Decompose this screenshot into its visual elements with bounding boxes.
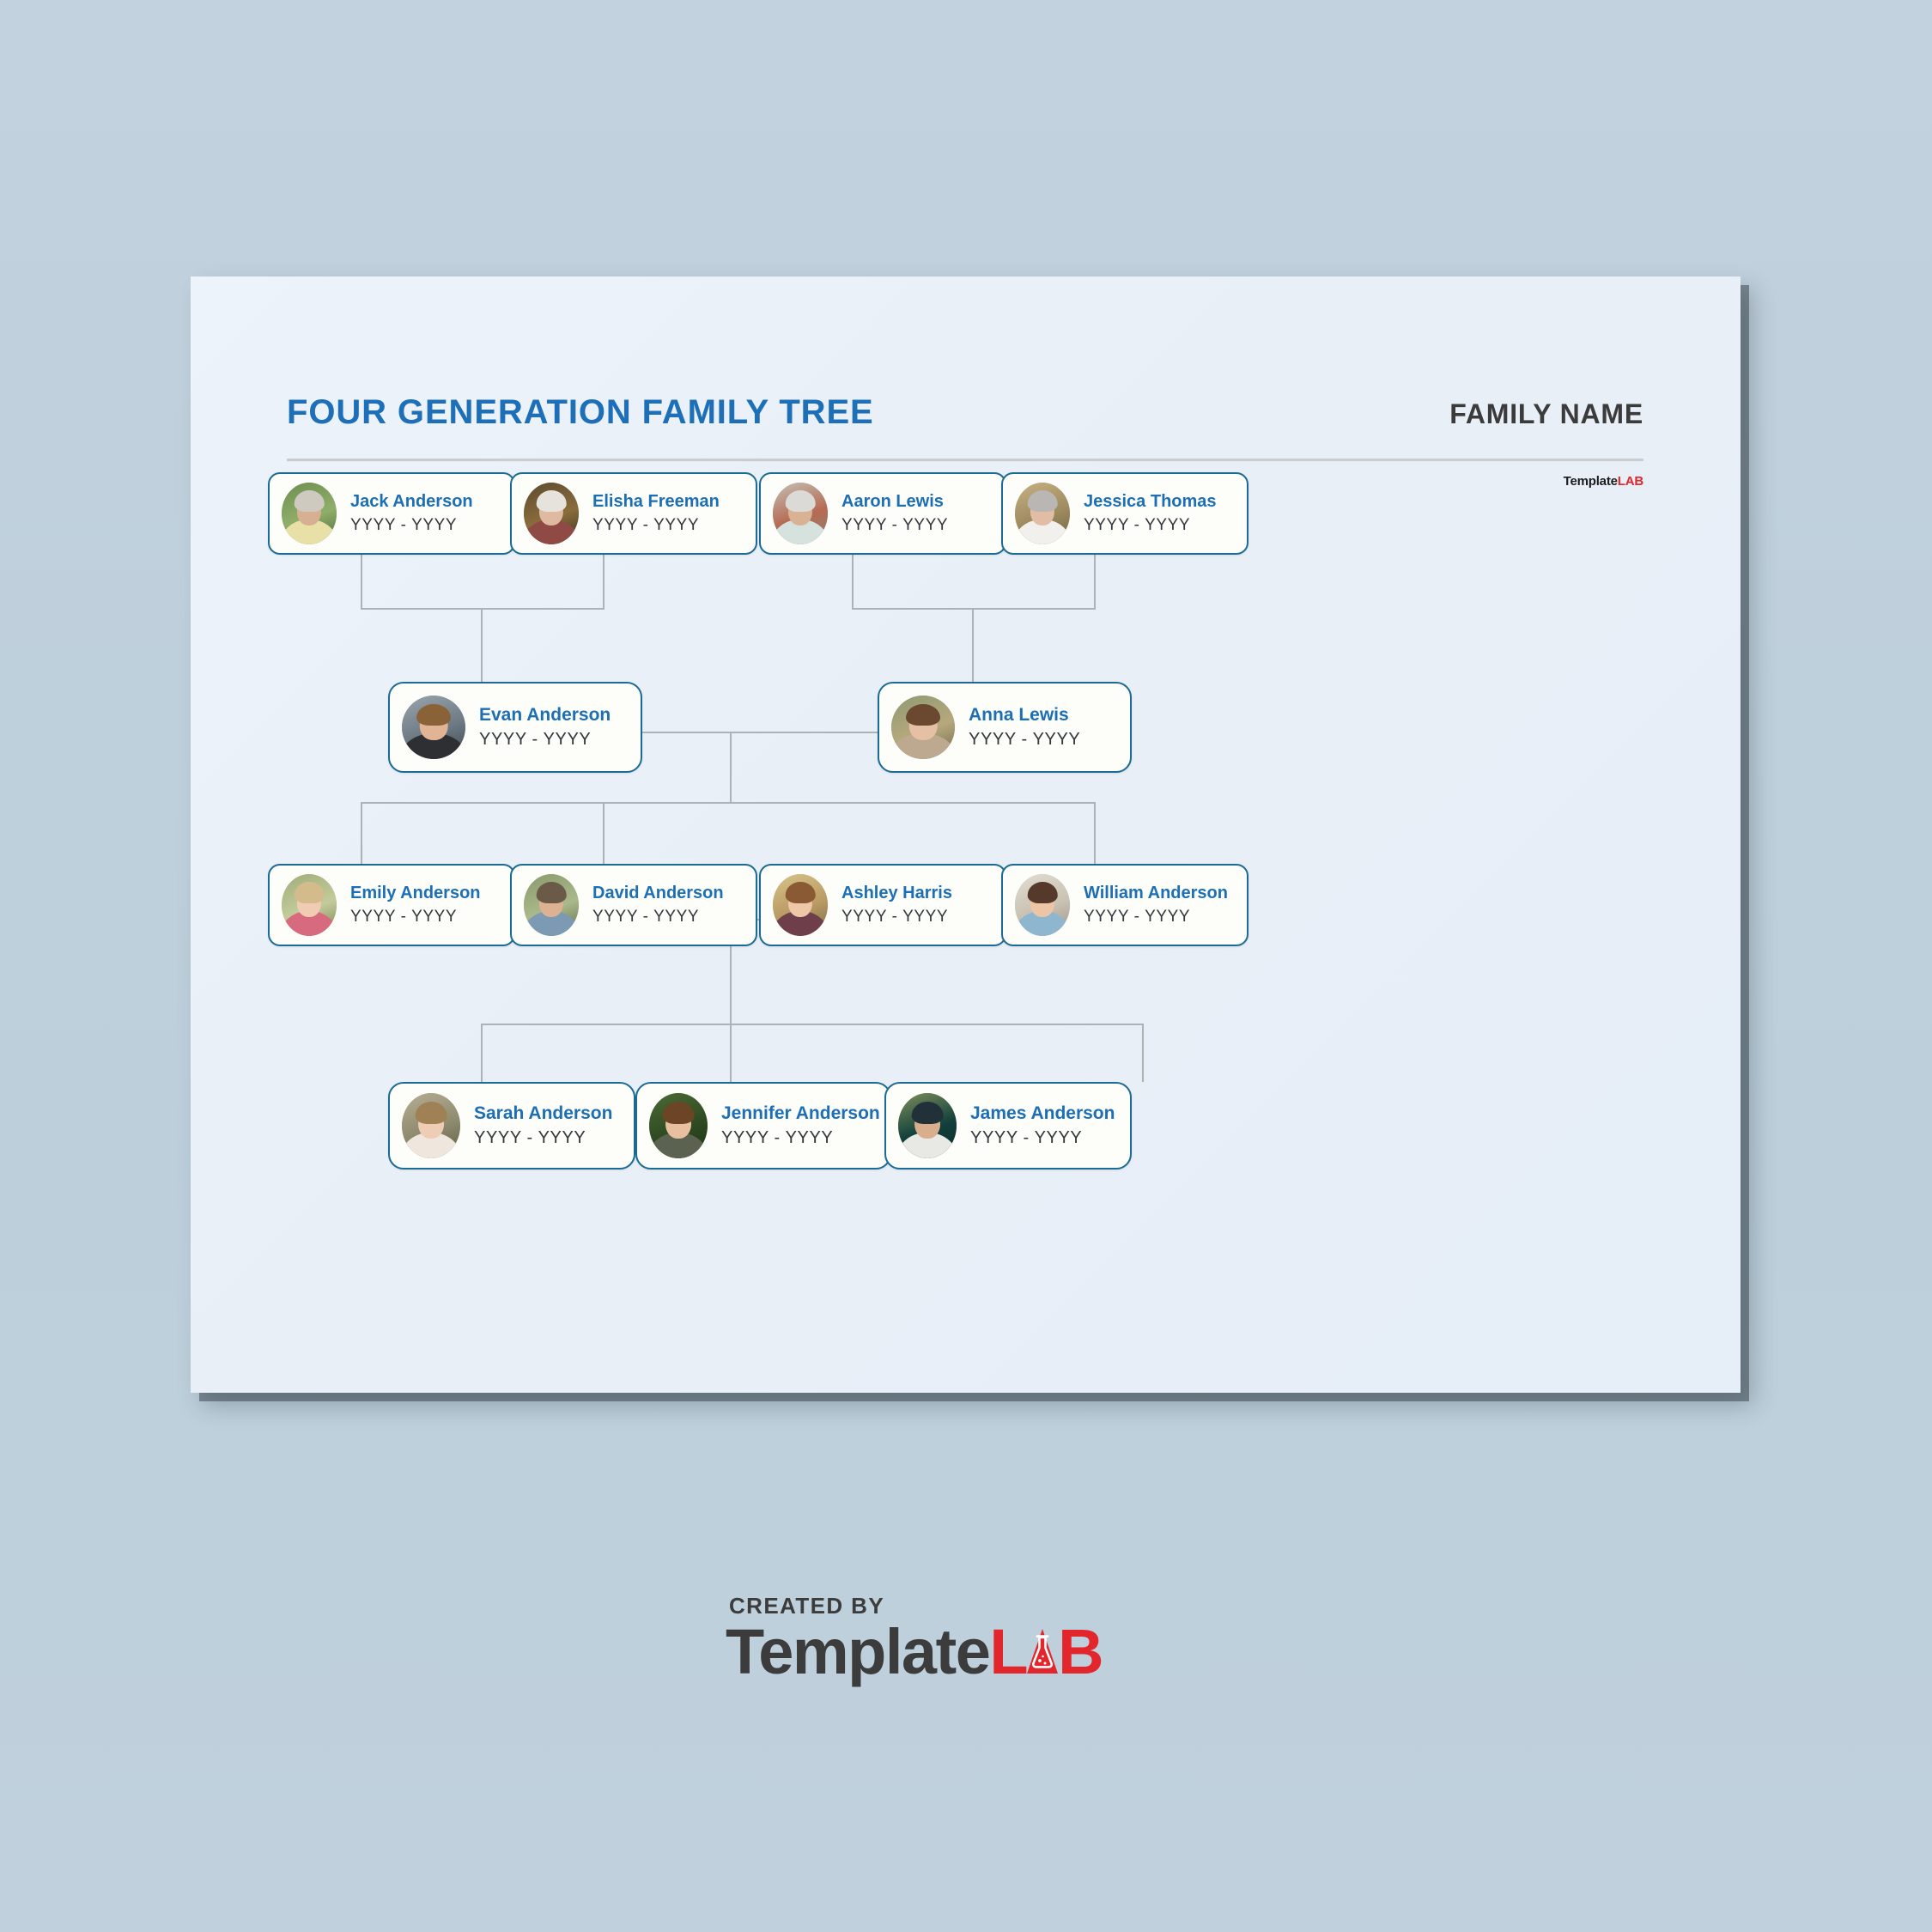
person-meta-jessica: Jessica Thomas YYYY - YYYY: [1084, 492, 1217, 535]
person-card-sarah[interactable]: Sarah Anderson YYYY - YYYY: [388, 1082, 635, 1170]
connector-gen4-to-jennifer: [730, 1024, 732, 1082]
templatelab-logo: TemplateLB: [726, 1621, 1206, 1684]
person-card-jessica[interactable]: Jessica Thomas YYYY - YYYY: [1001, 472, 1249, 555]
avatar-sarah: [402, 1093, 460, 1158]
person-meta-david: David Anderson YYYY - YYYY: [592, 884, 724, 927]
person-name: Elisha Freeman: [592, 492, 720, 513]
person-dates[interactable]: YYYY - YYYY: [350, 908, 481, 927]
person-name: Evan Anderson: [479, 705, 611, 726]
person-name: Sarah Anderson: [474, 1103, 612, 1125]
avatar-anna: [891, 696, 955, 759]
avatar-emily: [282, 874, 337, 936]
person-name: Jennifer Anderson: [721, 1103, 880, 1125]
avatar-william: [1015, 874, 1070, 936]
person-name: James Anderson: [970, 1103, 1115, 1125]
avatar-elisha: [524, 483, 579, 544]
person-name: Aaron Lewis: [841, 492, 948, 513]
logo-l-text: L: [989, 1616, 1027, 1687]
person-card-james[interactable]: James Anderson YYYY - YYYY: [884, 1082, 1132, 1170]
person-name: Jessica Thomas: [1084, 492, 1217, 513]
connector-jessica-drop: [1094, 555, 1096, 608]
person-dates[interactable]: YYYY - YYYY: [841, 516, 948, 535]
person-name: David Anderson: [592, 884, 724, 904]
footer-branding: CREATED BY TemplateLB: [0, 1593, 1932, 1684]
person-dates[interactable]: YYYY - YYYY: [350, 516, 473, 535]
person-card-ashley[interactable]: Ashley Harris YYYY - YYYY: [759, 864, 1006, 946]
connector-gen3-to-william: [1094, 802, 1096, 864]
connector-elisha-drop: [603, 555, 605, 608]
avatar-aaron: [773, 483, 828, 544]
connector-jack-drop: [361, 555, 362, 608]
avatar-jennifer: [649, 1093, 708, 1158]
person-dates[interactable]: YYYY - YYYY: [592, 516, 720, 535]
person-name: Jack Anderson: [350, 492, 473, 513]
person-meta-sarah: Sarah Anderson YYYY - YYYY: [474, 1103, 612, 1148]
connector-evan-anna-drop: [730, 732, 732, 802]
person-name: Anna Lewis: [969, 705, 1080, 726]
person-dates[interactable]: YYYY - YYYY: [721, 1128, 880, 1149]
person-dates[interactable]: YYYY - YYYY: [479, 730, 611, 750]
person-card-david[interactable]: David Anderson YYYY - YYYY: [510, 864, 757, 946]
avatar-evan: [402, 696, 465, 759]
person-meta-ashley: Ashley Harris YYYY - YYYY: [841, 884, 952, 927]
person-card-william[interactable]: William Anderson YYYY - YYYY: [1001, 864, 1249, 946]
person-meta-james: James Anderson YYYY - YYYY: [970, 1103, 1115, 1148]
person-dates[interactable]: YYYY - YYYY: [474, 1128, 612, 1149]
person-meta-evan: Evan Anderson YYYY - YYYY: [479, 705, 611, 750]
person-meta-aaron: Aaron Lewis YYYY - YYYY: [841, 492, 948, 535]
person-card-jack[interactable]: Jack Anderson YYYY - YYYY: [268, 472, 515, 555]
person-name: William Anderson: [1084, 884, 1228, 904]
person-meta-emily: Emily Anderson YYYY - YYYY: [350, 884, 481, 927]
connector-gen4-to-james: [1142, 1024, 1144, 1082]
connector-gen4-to-sarah: [481, 1024, 483, 1082]
connector-couple2-bar: [852, 608, 1096, 610]
person-dates[interactable]: YYYY - YYYY: [969, 730, 1080, 750]
person-dates[interactable]: YYYY - YYYY: [592, 908, 724, 927]
connector-aaron-drop: [852, 555, 854, 608]
connector-gen3-to-emily: [361, 802, 362, 864]
page-background: FOUR GENERATION FAMILY TREE FAMILY NAME …: [0, 0, 1932, 1932]
connector-gen3-bar: [361, 802, 1096, 804]
avatar-jessica: [1015, 483, 1070, 544]
person-dates[interactable]: YYYY - YYYY: [841, 908, 952, 927]
document-sheet: FOUR GENERATION FAMILY TREE FAMILY NAME …: [191, 276, 1741, 1393]
family-tree-diagram: Jack Anderson YYYY - YYYY Elisha Freeman…: [191, 276, 1741, 1393]
person-card-emily[interactable]: Emily Anderson YYYY - YYYY: [268, 864, 515, 946]
person-meta-anna: Anna Lewis YYYY - YYYY: [969, 705, 1080, 750]
connector-couple1-to-evan: [481, 608, 483, 682]
avatar-jack: [282, 483, 337, 544]
connector-gen3-to-david: [603, 802, 605, 864]
connector-couple2-to-anna: [972, 608, 974, 682]
person-dates[interactable]: YYYY - YYYY: [1084, 516, 1217, 535]
avatar-david: [524, 874, 579, 936]
person-name: Ashley Harris: [841, 884, 952, 904]
avatar-james: [898, 1093, 957, 1158]
logo-b-text: B: [1058, 1616, 1103, 1687]
person-card-jennifer[interactable]: Jennifer Anderson YYYY - YYYY: [635, 1082, 891, 1170]
person-dates[interactable]: YYYY - YYYY: [970, 1128, 1115, 1149]
person-dates[interactable]: YYYY - YYYY: [1084, 908, 1228, 927]
person-meta-jack: Jack Anderson YYYY - YYYY: [350, 492, 473, 535]
connector-gen4-bar: [481, 1024, 1144, 1025]
person-card-anna[interactable]: Anna Lewis YYYY - YYYY: [878, 682, 1132, 773]
person-name: Emily Anderson: [350, 884, 481, 904]
logo-template-text: Template: [726, 1616, 989, 1687]
person-card-evan[interactable]: Evan Anderson YYYY - YYYY: [388, 682, 642, 773]
avatar-ashley: [773, 874, 828, 936]
person-meta-william: William Anderson YYYY - YYYY: [1084, 884, 1228, 927]
person-meta-jennifer: Jennifer Anderson YYYY - YYYY: [721, 1103, 880, 1148]
person-card-aaron[interactable]: Aaron Lewis YYYY - YYYY: [759, 472, 1006, 555]
flask-icon: [1024, 1623, 1060, 1671]
person-card-elisha[interactable]: Elisha Freeman YYYY - YYYY: [510, 472, 757, 555]
person-meta-elisha: Elisha Freeman YYYY - YYYY: [592, 492, 720, 535]
connector-couple1-bar: [361, 608, 605, 610]
